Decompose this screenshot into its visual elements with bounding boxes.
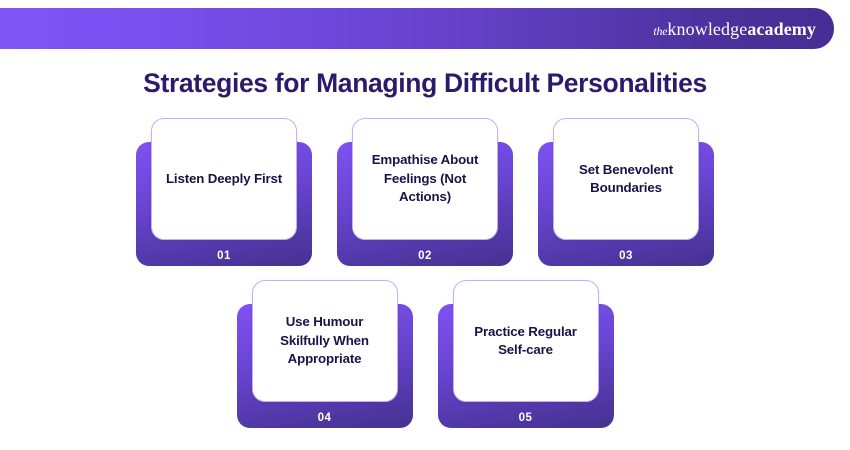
header-bar: theknowledgeacademy (0, 8, 834, 49)
strategy-card[interactable]: 05 Practice Regular Self-care (438, 280, 614, 428)
strategy-card[interactable]: 03 Set Benevolent Boundaries (538, 118, 714, 266)
card-label: Practice Regular Self-care (462, 323, 590, 360)
logo-suffix-text: academy (747, 19, 816, 39)
card-label: Set Benevolent Boundaries (562, 161, 690, 198)
card-label: Empathise About Feelings (Not Actions) (361, 151, 489, 207)
card-number: 02 (337, 250, 513, 262)
strategy-card[interactable]: 01 Listen Deeply First (136, 118, 312, 266)
card-number: 01 (136, 250, 312, 262)
card-front-panel: Set Benevolent Boundaries (553, 118, 699, 240)
card-number: 03 (538, 250, 714, 262)
logo-middle-text: knowledge (667, 19, 747, 39)
card-front-panel: Practice Regular Self-care (453, 280, 599, 402)
brand-logo: theknowledgeacademy (653, 20, 816, 38)
page-title: Strategies for Managing Difficult Person… (0, 66, 850, 100)
card-number: 05 (438, 412, 614, 424)
card-front-panel: Use Humour Skilfully When Appropriate (252, 280, 398, 402)
card-front-panel: Empathise About Feelings (Not Actions) (352, 118, 498, 240)
card-front-panel: Listen Deeply First (151, 118, 297, 240)
card-row-top: 01 Listen Deeply First 02 Empathise Abou… (0, 118, 850, 266)
card-label: Listen Deeply First (166, 170, 282, 189)
strategy-card[interactable]: 04 Use Humour Skilfully When Appropriate (237, 280, 413, 428)
strategy-card[interactable]: 02 Empathise About Feelings (Not Actions… (337, 118, 513, 266)
logo-prefix-text: the (653, 24, 667, 38)
card-number: 04 (237, 412, 413, 424)
card-row-bottom: 04 Use Humour Skilfully When Appropriate… (0, 280, 850, 428)
card-label: Use Humour Skilfully When Appropriate (261, 313, 389, 369)
